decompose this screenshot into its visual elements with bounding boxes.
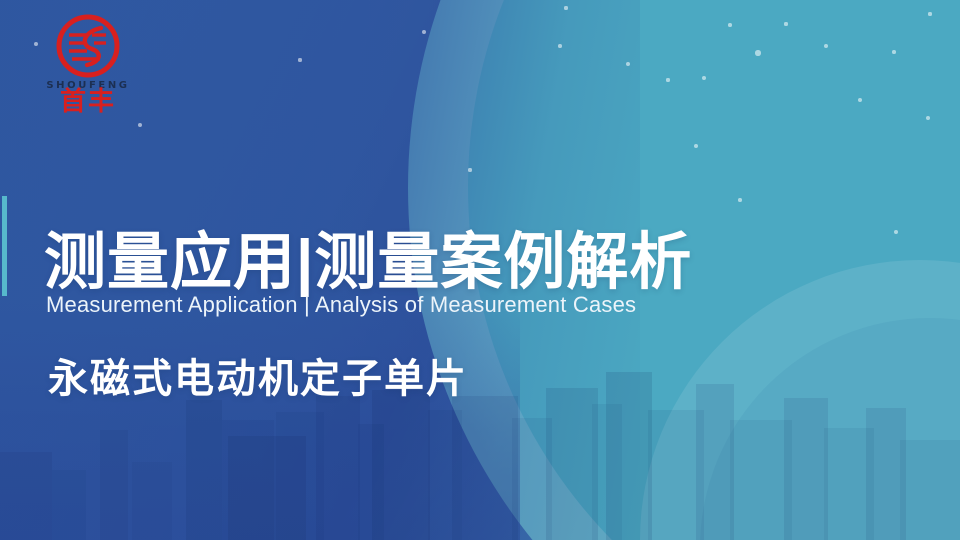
particle-dot — [926, 116, 930, 120]
particle-dot — [694, 144, 698, 148]
particle-dot — [422, 30, 426, 34]
particle-dot — [784, 22, 787, 25]
particle-dot — [702, 76, 706, 80]
company-logo: SHOUFENG 首丰 — [34, 14, 142, 110]
particle-dot — [138, 123, 143, 128]
particle-dot — [755, 50, 760, 55]
particle-dot — [894, 230, 898, 234]
particle-dot — [728, 23, 732, 27]
shoufeng-emblem-icon — [56, 14, 120, 83]
particle-dot — [626, 62, 631, 67]
particle-dot — [564, 6, 567, 9]
particle-dot — [858, 98, 863, 103]
particle-dot — [468, 168, 471, 171]
page-subtitle: Measurement Application | Analysis of Me… — [46, 292, 636, 318]
logo-chinese-text: 首丰 — [34, 88, 142, 114]
secondary-title: 永磁式电动机定子单片 — [48, 346, 468, 404]
particle-dot — [824, 44, 828, 48]
particle-dot — [928, 12, 931, 15]
title-accent-bar — [2, 196, 7, 296]
particle-dot — [738, 198, 742, 202]
particle-dot — [892, 50, 896, 54]
particle-dot — [558, 44, 562, 48]
particle-dot — [666, 78, 669, 81]
page-title: 测量应用|测量案例解析 — [44, 230, 692, 295]
presentation-slide: SHOUFENG 首丰 测量应用|测量案例解析 Measurement Appl… — [0, 0, 960, 540]
particle-dot — [298, 58, 301, 61]
